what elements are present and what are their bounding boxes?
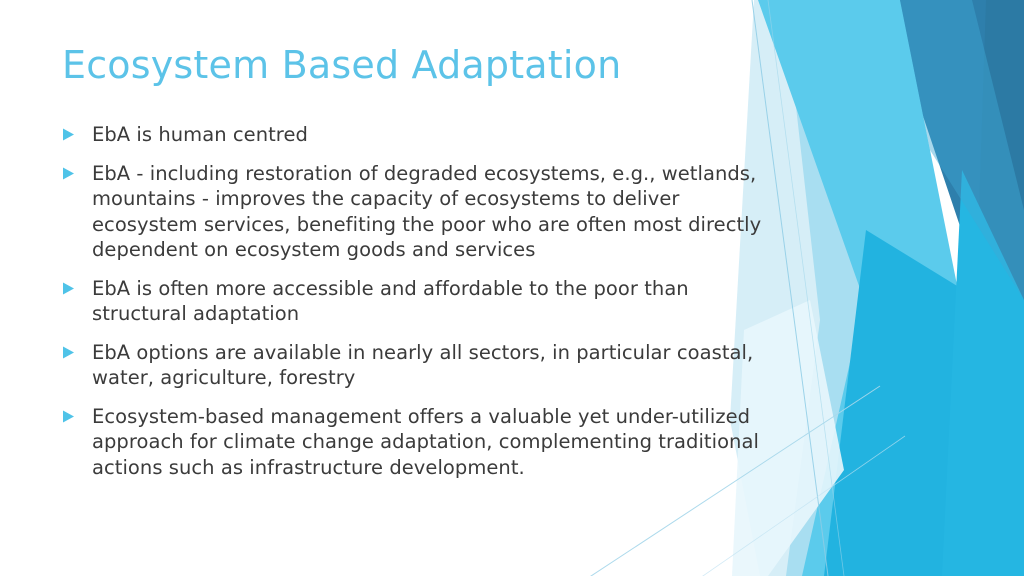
list-item: EbA is human centred: [62, 122, 774, 148]
decor-shape-bright-cyan: [824, 230, 1024, 576]
triangle-right-icon: [62, 404, 92, 423]
list-item-text: EbA is human centred: [92, 122, 774, 148]
decor-shape-sky-cyan: [758, 0, 964, 576]
list-item: EbA - including restoration of degraded …: [62, 161, 774, 263]
bullet-list: EbA is human centred EbA - including res…: [62, 122, 774, 493]
list-item: Ecosystem-based management offers a valu…: [62, 404, 774, 481]
list-item: EbA is often more accessible and afforda…: [62, 276, 774, 327]
page-title: Ecosystem Based Adaptation: [62, 44, 762, 88]
list-item: EbA options are available in nearly all …: [62, 340, 774, 391]
slide-canvas: Ecosystem Based Adaptation EbA is human …: [0, 0, 1024, 576]
decor-shape-bright-cyan-right: [942, 170, 1024, 576]
list-item-text: EbA options are available in nearly all …: [92, 340, 774, 391]
triangle-right-icon: [62, 276, 92, 295]
list-item-text: EbA - including restoration of degraded …: [92, 161, 774, 263]
decor-shape-light-cyan: [784, 0, 910, 576]
list-item-text: EbA is often more accessible and afforda…: [92, 276, 774, 327]
list-item-text: Ecosystem-based management offers a valu…: [92, 404, 774, 481]
triangle-right-icon: [62, 161, 92, 180]
decor-shape-deep-teal: [884, 0, 1024, 576]
triangle-right-icon: [62, 122, 92, 141]
decor-shape-deep-teal-sliver: [976, 0, 1024, 300]
decor-shape-sky-cyan-overlay: [900, 0, 1024, 300]
triangle-right-icon: [62, 340, 92, 359]
decor-hairline-2: [768, 0, 844, 576]
